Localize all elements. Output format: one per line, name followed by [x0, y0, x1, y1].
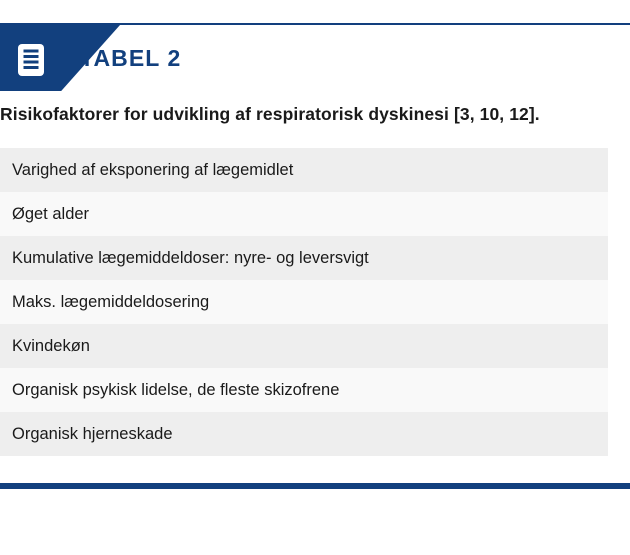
- table-row: Kumulative lægemiddeldoser: nyre- og lev…: [0, 236, 608, 280]
- table-caption: Risikofaktorer for udvikling af respirat…: [0, 104, 620, 125]
- risk-factors-table: Varighed af eksponering af lægemidlet Øg…: [0, 148, 608, 456]
- table-row: Maks. lægemiddeldosering: [0, 280, 608, 324]
- table-row: Organisk hjerneskade: [0, 412, 608, 456]
- table-row: Varighed af eksponering af lægemidlet: [0, 148, 608, 192]
- table-header: TABEL 2: [0, 23, 630, 91]
- table-row: Øget alder: [0, 192, 608, 236]
- footer-accent-bar: [0, 483, 630, 489]
- table-figure-page: TABEL 2 Risikofaktorer for udvikling af …: [0, 0, 630, 555]
- document-list-icon: [17, 43, 45, 77]
- table-row: Organisk psykisk lidelse, de fleste skiz…: [0, 368, 608, 412]
- table-number-label: TABEL 2: [80, 25, 181, 91]
- table-row: Kvindekøn: [0, 324, 608, 368]
